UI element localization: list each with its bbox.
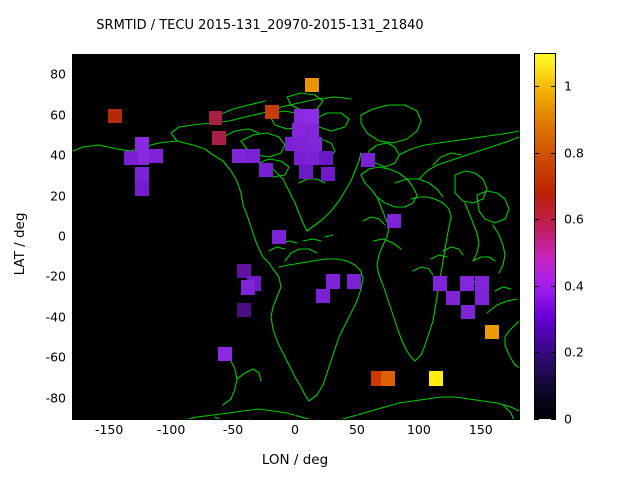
- x-tick-mark: [233, 413, 234, 418]
- heatmap-cell: [361, 153, 375, 167]
- y-tick-label: 40: [2, 148, 66, 163]
- y-tick-mark: [72, 317, 77, 318]
- x-tick-label: 50: [327, 422, 387, 437]
- colorbar-tick-label: 0.2: [564, 345, 584, 360]
- colorbar: 10.80.60.40.20: [534, 53, 634, 419]
- x-tick-mark: [481, 413, 482, 418]
- x-axis-label: LON / deg: [72, 452, 518, 468]
- y-tick-mark: [72, 357, 77, 358]
- y-tick-mark-right: [513, 236, 518, 237]
- x-tick-mark-top: [295, 54, 296, 59]
- y-tick-label: -40: [2, 309, 66, 324]
- heatmap-cell: [485, 325, 499, 339]
- heatmap-cell: [299, 165, 313, 179]
- heatmap-cell: [326, 274, 340, 288]
- x-tick-mark-top: [419, 54, 420, 59]
- heatmap-cell: [461, 305, 475, 319]
- colorbar-tick-label: 0.4: [564, 278, 584, 293]
- x-tick-mark: [419, 413, 420, 418]
- heatmap-cell: [319, 151, 333, 165]
- heatmap-cell: [209, 111, 223, 125]
- y-tick-label: 60: [2, 107, 66, 122]
- y-tick-mark-right: [513, 155, 518, 156]
- x-tick-mark-top: [481, 54, 482, 59]
- heatmap-cell: [237, 303, 251, 317]
- heatmap-cell: [241, 280, 255, 294]
- heatmap-cell: [292, 123, 306, 137]
- heatmap-cell: [475, 276, 489, 290]
- y-tick-mark-right: [513, 276, 518, 277]
- heatmap-cell: [433, 276, 447, 290]
- colorbar-tick-mark-right: [551, 352, 556, 353]
- colorbar-tick-mark: [534, 352, 539, 353]
- colorbar-tick-label: 1: [564, 79, 572, 94]
- colorbar-tick-label: 0.8: [564, 145, 584, 160]
- colorbar-tick-mark: [534, 153, 539, 154]
- heatmap-cell: [446, 291, 460, 305]
- figure-root: SRMTID / TECU 2015-131_20970-2015-131_21…: [0, 0, 640, 480]
- heatmap-cell: [305, 123, 319, 137]
- heatmap-cell: [347, 274, 361, 288]
- y-tick-mark-right: [513, 196, 518, 197]
- heatmap-cell: [135, 137, 149, 151]
- x-tick-label: 150: [451, 422, 511, 437]
- x-tick-mark: [295, 413, 296, 418]
- heatmap-cell: [321, 167, 335, 181]
- heatmap-cell: [308, 137, 322, 151]
- heatmap-cell: [305, 78, 319, 92]
- colorbar-tick-mark: [534, 419, 539, 420]
- y-tick-mark: [72, 236, 77, 237]
- heatmap-cell: [305, 109, 319, 123]
- colorbar-tick-mark-right: [551, 286, 556, 287]
- x-tick-label: -150: [79, 422, 139, 437]
- colorbar-tick-mark-right: [551, 86, 556, 87]
- colorbar-tick-mark: [534, 86, 539, 87]
- heatmap-cell: [272, 230, 286, 244]
- x-tick-mark-top: [171, 54, 172, 59]
- x-tick-label: -50: [203, 422, 263, 437]
- heatmap-cell: [259, 163, 273, 177]
- heatmap-cell: [475, 291, 489, 305]
- y-tick-mark-right: [513, 115, 518, 116]
- y-tick-label: 80: [2, 67, 66, 82]
- heatmap-cell: [305, 151, 319, 165]
- heatmap-cell: [212, 131, 226, 145]
- y-tick-mark-right: [513, 317, 518, 318]
- heatmap-cell: [218, 347, 232, 361]
- colorbar-tick-label: 0.6: [564, 212, 584, 227]
- y-tick-mark: [72, 74, 77, 75]
- y-tick-label: -80: [2, 390, 66, 405]
- heatmap-cell: [387, 214, 401, 228]
- y-tick-mark-right: [513, 398, 518, 399]
- y-tick-mark: [72, 115, 77, 116]
- heatmap-cell: [232, 149, 246, 163]
- heatmap-cell: [149, 149, 163, 163]
- colorbar-tick-mark-right: [551, 419, 556, 420]
- x-tick-label: -100: [141, 422, 201, 437]
- heatmap-cell: [316, 289, 330, 303]
- x-tick-label: 0: [265, 422, 325, 437]
- heatmap-cell: [124, 151, 138, 165]
- y-tick-label: -60: [2, 350, 66, 365]
- colorbar-tick-label: 0: [564, 412, 572, 427]
- heatmap-cell: [265, 105, 279, 119]
- x-tick-mark-top: [357, 54, 358, 59]
- chart-title: SRMTID / TECU 2015-131_20970-2015-131_21…: [0, 18, 520, 33]
- x-tick-mark: [109, 413, 110, 418]
- heatmap-cell: [460, 276, 474, 290]
- y-tick-mark: [72, 398, 77, 399]
- y-tick-mark: [72, 276, 77, 277]
- y-tick-mark-right: [513, 357, 518, 358]
- x-tick-mark-top: [233, 54, 234, 59]
- y-tick-mark: [72, 155, 77, 156]
- colorbar-tick-mark-right: [551, 153, 556, 154]
- heatmap-cell: [381, 371, 395, 385]
- y-tick-mark-right: [513, 74, 518, 75]
- colorbar-tick-mark-right: [551, 219, 556, 220]
- heatmap-cell: [108, 109, 122, 123]
- heatmap-cell: [135, 167, 149, 181]
- heatmap-cell: [429, 371, 443, 385]
- colorbar-gradient: [534, 53, 556, 419]
- x-tick-label: 100: [389, 422, 449, 437]
- heatmap-cell: [246, 149, 260, 163]
- y-axis-label: LAT / deg: [12, 184, 28, 304]
- colorbar-tick-mark: [534, 219, 539, 220]
- x-tick-mark: [357, 413, 358, 418]
- y-tick-mark: [72, 196, 77, 197]
- x-tick-mark: [171, 413, 172, 418]
- colorbar-tick-mark: [534, 286, 539, 287]
- x-tick-mark-top: [109, 54, 110, 59]
- heatmap-cell: [135, 181, 149, 195]
- plot-area: [72, 54, 520, 420]
